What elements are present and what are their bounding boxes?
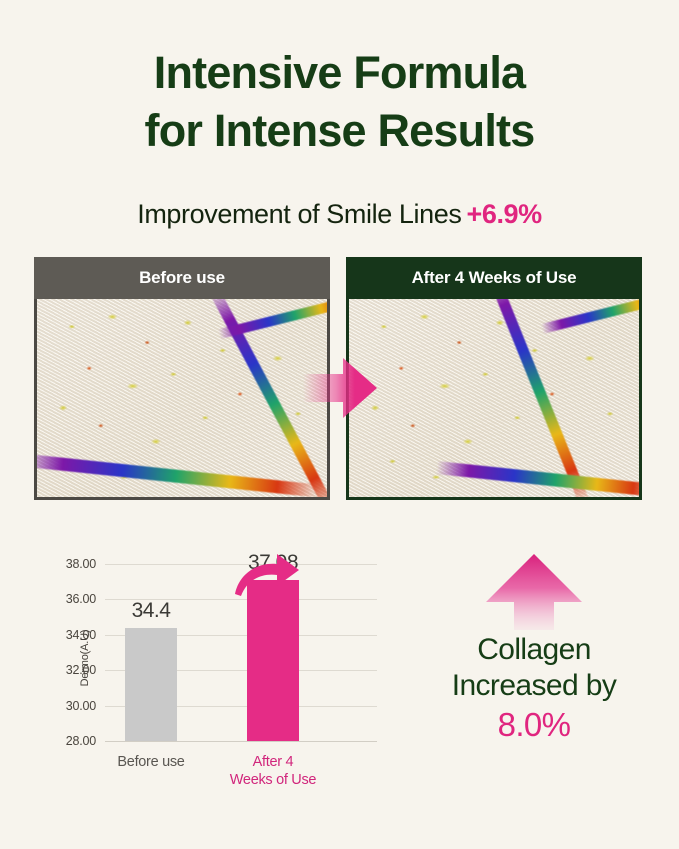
panel-before-header: Before use [34, 257, 330, 299]
panel-before-image [34, 299, 330, 500]
bar-value-label: 34.4 [132, 599, 171, 623]
right-arrow-icon [303, 357, 377, 419]
y-tick-label: 30.00 [66, 699, 96, 713]
up-arrow-icon [484, 552, 584, 630]
callout-percent: 8.0% [398, 705, 670, 745]
y-tick-label: 38.00 [66, 557, 96, 571]
y-tick-label: 36.00 [66, 592, 96, 606]
gridline-baseline: 28.00 [105, 741, 377, 742]
panel-after-header: After 4 Weeks of Use [346, 257, 642, 299]
bar-after-4-weeks: 37.08 After 4 Weeks of Use [247, 580, 299, 741]
panel-before: Before use [34, 257, 330, 500]
curved-up-arrow-icon [233, 550, 301, 598]
bar-chart: Dermo(A.U) 38.00 36.00 34.00 32.00 30.00… [34, 548, 394, 793]
subtitle-percent: +6.9% [466, 199, 541, 229]
callout-line-2: Increased by [398, 668, 670, 704]
x-axis-label-before: Before use [117, 753, 184, 771]
subtitle-text: Improvement of Smile Lines [137, 199, 461, 229]
y-axis-title: Dermo(A.U) [79, 603, 91, 713]
callout-text: Collagen Increased by 8.0% [398, 632, 670, 745]
infographic-page: Intensive Formula for Intense Results Im… [0, 0, 679, 849]
page-title: Intensive Formula for Intense Results [0, 44, 679, 159]
headline-line-2: for Intense Results [0, 102, 679, 160]
x-axis-label-after: After 4 Weeks of Use [230, 753, 316, 789]
y-tick-label: 28.00 [66, 734, 96, 748]
y-tick-label: 34.00 [66, 628, 96, 642]
y-tick-label: 32.00 [66, 663, 96, 677]
bar-before-use: 34.4 Before use [125, 628, 177, 741]
headline-line-1: Intensive Formula [0, 44, 679, 102]
panel-after: After 4 Weeks of Use [346, 257, 642, 500]
collagen-callout: Collagen Increased by 8.0% [398, 552, 670, 745]
callout-line-1: Collagen [398, 632, 670, 668]
panel-after-image [346, 299, 642, 500]
subtitle: Improvement of Smile Lines+6.9% [0, 199, 679, 230]
